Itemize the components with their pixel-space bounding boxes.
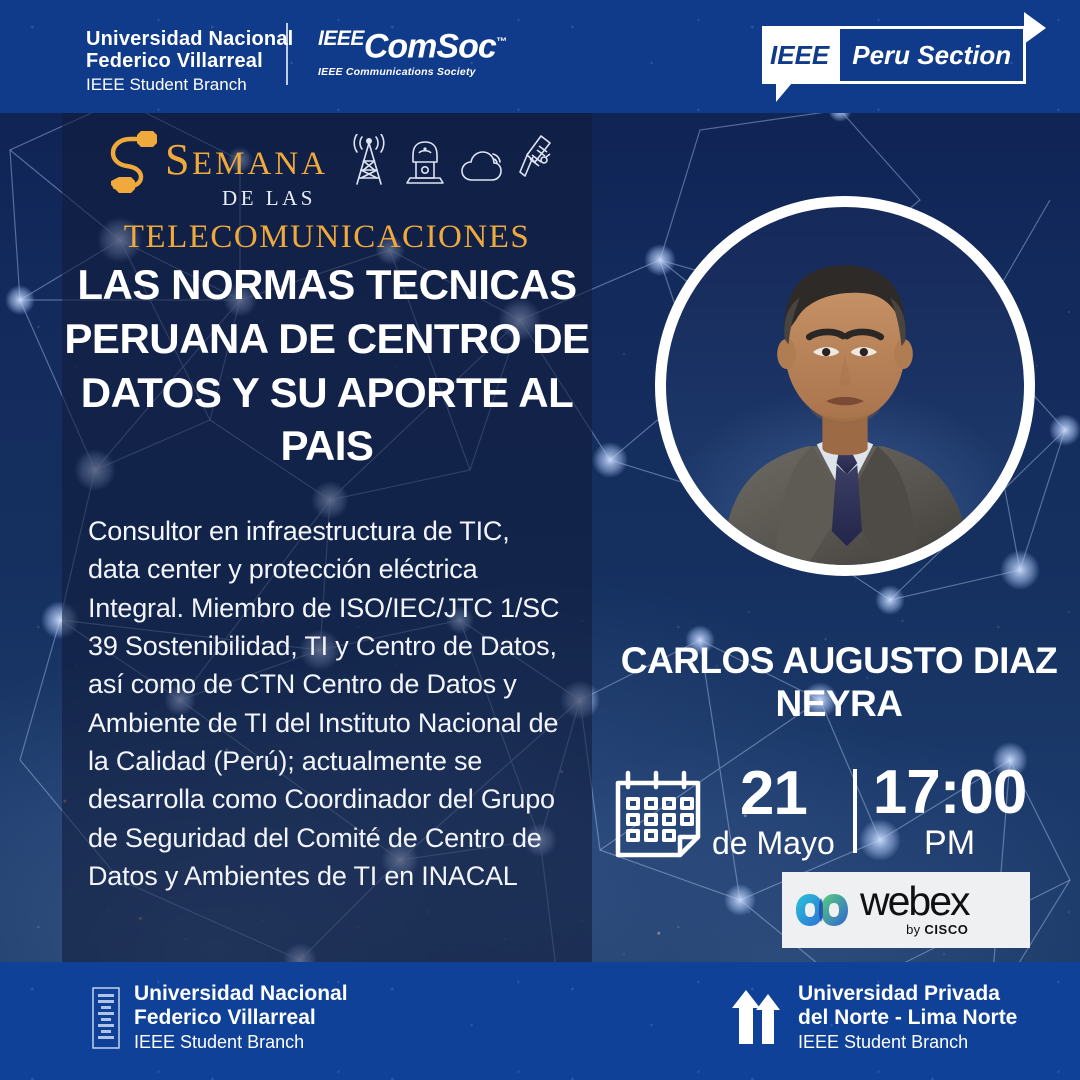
unfv-crest-icon (92, 987, 120, 1049)
event-time-value: 17:00 (873, 762, 1027, 824)
cloud-wifi-icon (460, 148, 506, 186)
comsoc-ieee-text: IEEE (318, 27, 364, 50)
speaker-portrait-illustration (666, 207, 1024, 565)
header-divider (286, 23, 288, 85)
datetime-divider (853, 769, 857, 853)
hacker-laptop-icon (403, 140, 447, 186)
unfv-line3: IEEE Student Branch (86, 74, 293, 95)
event-time: 17:00 PM (873, 762, 1027, 860)
trademark-icon: ™ (496, 36, 506, 48)
comsoc-name-text: ComSoc (364, 27, 496, 65)
speaker-name: CARLOS AUGUSTO DIAZ NEYRA (600, 640, 1078, 726)
event-day-number: 21 (740, 763, 807, 825)
header-ieee-peru-section-logo: IEEE Peru Section (762, 26, 1026, 84)
plug-cable-s-icon (101, 127, 159, 193)
footer-unfv-line1: Universidad Nacional (134, 982, 348, 1006)
footer-upn-logo: Universidad Privada del Norte - Lima Nor… (730, 982, 1017, 1053)
upn-arrow-icon (730, 988, 784, 1048)
webex-by-cisco: by CISCO (906, 922, 968, 937)
webex-logo-icon (794, 890, 850, 930)
arrow-head-icon (1024, 12, 1046, 44)
telecomunicaciones-text: TELECOMUNICACIONES (62, 219, 592, 256)
footer-upn-line2: del Norte - Lima Norte (798, 1006, 1017, 1030)
comsoc-subtitle: IEEE Communications Society (318, 66, 506, 78)
header-unfv-logo: Universidad Nacional Federico Villarreal… (86, 28, 293, 95)
event-month-label: de Mayo (712, 827, 835, 859)
antenna-tower-icon (348, 134, 390, 186)
unfv-line2: Federico Villarreal (86, 50, 293, 72)
footer-unfv-line2: Federico Villarreal (134, 1006, 348, 1030)
peru-section-text: Peru Section (837, 26, 1026, 84)
unfv-line1: Universidad Nacional (86, 28, 293, 50)
semana-rest-letters: EMANA (192, 148, 328, 181)
webex-wordmark: webex (860, 883, 969, 920)
speaker-bio: Consultor en infraestructura de TIC, dat… (88, 512, 566, 895)
footer-upn-line1: Universidad Privada (798, 982, 1017, 1006)
webex-by-text: by (906, 922, 924, 937)
semana-s-letter: S (165, 138, 192, 182)
event-date: 21 de Mayo (712, 763, 835, 859)
cisco-text: CISCO (924, 922, 968, 937)
event-datetime: 21 de Mayo 17:00 PM (610, 756, 1070, 866)
satellite-icon (519, 134, 553, 186)
talk-title: LAS NORMAS TECNICAS PERUANA DE CENTRO DE… (62, 258, 592, 473)
semana-wordmark: SEMANA (165, 138, 328, 182)
header-band: Universidad Nacional Federico Villarreal… (0, 0, 1080, 113)
webex-platform-badge[interactable]: webex by CISCO (782, 872, 1030, 948)
event-poster: Universidad Nacional Federico Villarreal… (0, 0, 1080, 1080)
event-meridiem: PM (924, 826, 975, 860)
speaker-photo (655, 196, 1035, 576)
footer-unfv-logo: Universidad Nacional Federico Villarreal… (92, 982, 348, 1053)
footer-band: Universidad Nacional Federico Villarreal… (0, 962, 1080, 1080)
footer-upn-line3: IEEE Student Branch (798, 1031, 1017, 1054)
semana-telecomunicaciones-logo: SEMANA (62, 124, 592, 256)
calendar-icon (610, 763, 706, 859)
header-comsoc-logo: IEEEComSoc™ IEEE Communications Society (318, 28, 506, 78)
peru-ieee-text: IEEE (762, 26, 837, 84)
speech-tail-icon (776, 83, 792, 102)
telecom-icon-row (348, 134, 553, 186)
footer-unfv-line3: IEEE Student Branch (134, 1031, 348, 1054)
